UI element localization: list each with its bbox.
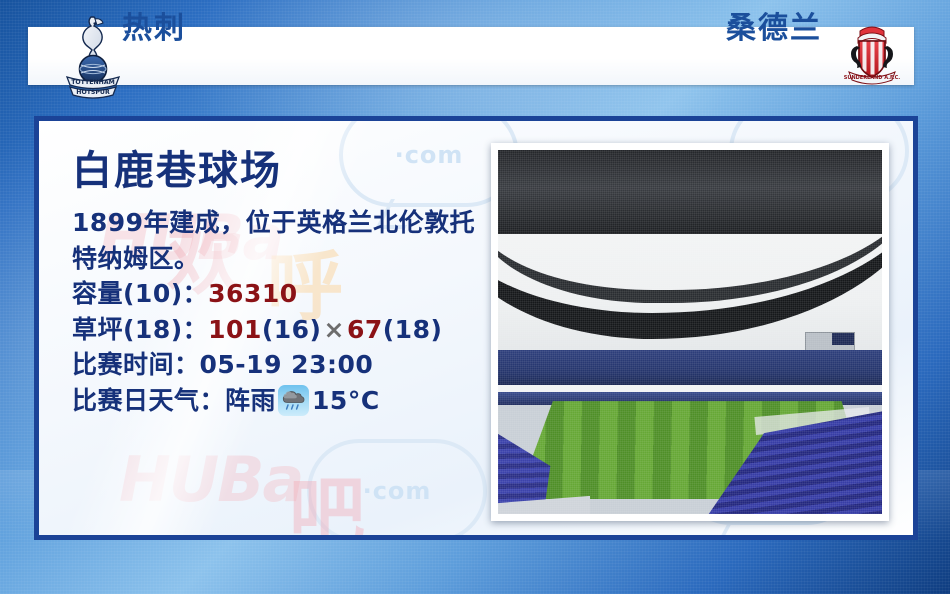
weather-condition: 阵雨 bbox=[225, 383, 276, 419]
match-time-label: 比赛时间： bbox=[72, 350, 200, 379]
capacity-row: 容量(10)：36310 bbox=[72, 276, 492, 312]
match-time-row: 比赛时间：05-19 23:00 bbox=[72, 347, 492, 383]
pitch-times-symbol: × bbox=[322, 315, 347, 344]
tottenham-hotspur-crest: TOTTENHAM HOTSPUR bbox=[64, 14, 122, 100]
pitch-length: 101 bbox=[208, 315, 262, 344]
pitch-width-note: (18) bbox=[383, 315, 443, 344]
away-team-name: 桑德兰 bbox=[726, 14, 822, 44]
stadium-details: 白鹿巷球场 1899年建成，位于英格兰北伦敦托特纳姆区。 容量(10)：3631… bbox=[72, 149, 492, 418]
broadcast-graphic: TOTTENHAM HOTSPUR 热刺 桑德兰 bbox=[0, 0, 950, 594]
shower-rain-icon bbox=[278, 385, 309, 416]
home-team-name: 热刺 bbox=[122, 14, 186, 44]
crest-banner-bottom: HOTSPUR bbox=[76, 89, 110, 96]
pitch-label: 草坪(18)： bbox=[72, 315, 208, 344]
stadium-photo bbox=[498, 150, 882, 514]
sunderland-afc-crest: SUNDERLAND A.F.C. bbox=[840, 22, 904, 86]
pitch-row: 草坪(18)：101(16)×67(18) bbox=[72, 312, 492, 348]
pitch-length-note: (16) bbox=[262, 315, 322, 344]
capacity-label: 容量(10)： bbox=[72, 279, 208, 308]
crest-banner: SUNDERLAND A.F.C. bbox=[844, 75, 901, 81]
weather-label: 比赛日天气： bbox=[72, 383, 225, 419]
pitch-width: 67 bbox=[347, 315, 383, 344]
match-time-value: 05-19 23:00 bbox=[200, 350, 374, 379]
crest-banner-top: TOTTENHAM bbox=[71, 79, 115, 86]
stadium-info-panel: ·com ·com ·com ·com HUBa HUaB HUBa 欢 呼 吧… bbox=[34, 116, 918, 540]
watermark-hanzi: 吧 bbox=[289, 451, 369, 540]
stadium-description: 1899年建成，位于英格兰北伦敦托特纳姆区。 bbox=[72, 205, 492, 276]
stadium-photo-frame bbox=[491, 143, 889, 521]
watermark-bubble: ·com bbox=[307, 439, 487, 540]
capacity-value: 36310 bbox=[208, 279, 297, 308]
stadium-title: 白鹿巷球场 bbox=[72, 149, 492, 193]
weather-temperature: 15°C bbox=[312, 383, 380, 419]
watermark-latin: HUBa bbox=[119, 443, 302, 516]
photo-far-stand bbox=[498, 350, 882, 386]
weather-row: 比赛日天气：阵雨 15°C bbox=[72, 383, 492, 419]
